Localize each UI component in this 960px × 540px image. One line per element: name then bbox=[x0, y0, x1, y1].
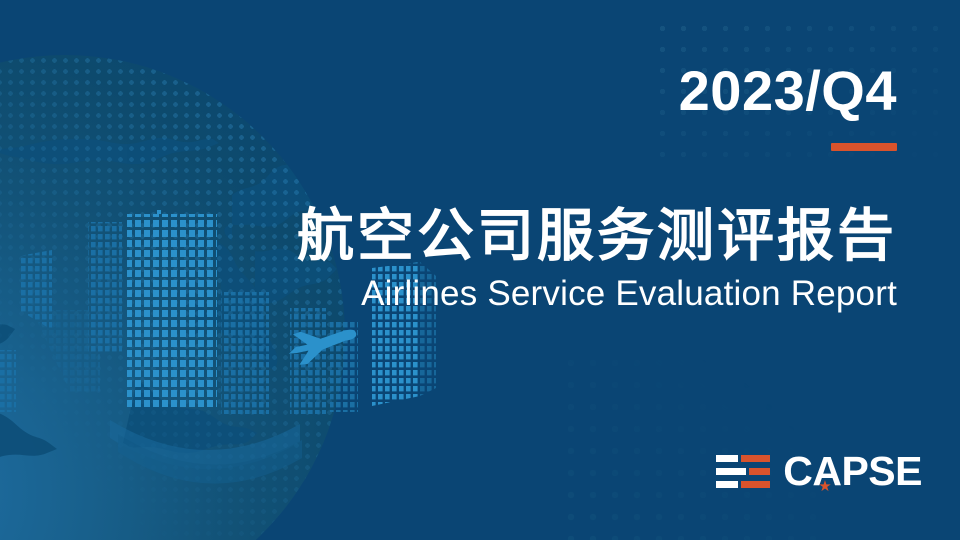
logo-bar-orange-2 bbox=[749, 468, 770, 475]
logo-bar-white-2 bbox=[716, 468, 746, 475]
capse-logo-mark-icon bbox=[716, 454, 770, 490]
dot-grid-bottom-left bbox=[560, 352, 820, 540]
logo-bar-white-3 bbox=[716, 481, 738, 488]
page-title-chinese: 航空公司服务测评报告 bbox=[297, 205, 897, 269]
capse-wordmark: CAPSE ★ bbox=[783, 451, 922, 492]
report-cover-slide: 2023/Q4 航空公司服务测评报告 Airlines Service Eval… bbox=[0, 0, 960, 540]
logo-bar-orange-1 bbox=[741, 455, 770, 462]
page-title-english: Airlines Service Evaluation Report bbox=[361, 274, 897, 313]
logo-bar-white-1 bbox=[716, 455, 738, 462]
period-label: 2023/Q4 bbox=[679, 63, 897, 119]
accent-underline bbox=[831, 143, 897, 151]
capse-logo[interactable]: CAPSE ★ bbox=[716, 451, 922, 492]
logo-bar-orange-3 bbox=[741, 481, 770, 488]
capse-wordmark-text: CAPSE bbox=[783, 451, 922, 492]
star-icon: ★ bbox=[818, 480, 831, 493]
